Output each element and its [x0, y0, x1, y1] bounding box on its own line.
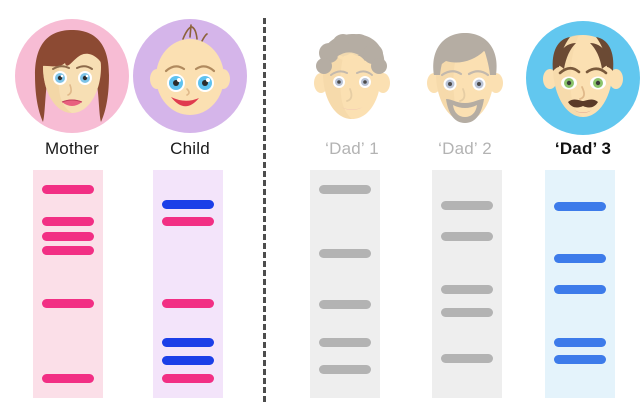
band-child-5[interactable] — [162, 356, 214, 365]
band-child-1[interactable] — [162, 200, 214, 209]
dad2-face-icon — [408, 21, 522, 135]
column-label-child: Child — [120, 139, 260, 159]
band-dad3-4[interactable] — [554, 338, 606, 347]
dad3-face-icon — [526, 21, 640, 135]
band-mother-4[interactable] — [42, 246, 94, 255]
band-child-6[interactable] — [162, 374, 214, 383]
band-dad3-1[interactable] — [554, 202, 606, 211]
child-face-icon — [133, 19, 247, 133]
band-dad2-4[interactable] — [441, 308, 493, 317]
band-dad2-3[interactable] — [441, 285, 493, 294]
gel-lane-dad1[interactable] — [310, 170, 380, 398]
gel-lane-dad2[interactable] — [432, 170, 502, 398]
band-dad1-1[interactable] — [319, 185, 371, 194]
band-dad3-2[interactable] — [554, 254, 606, 263]
paternity-gel-figure: MotherChild‘Dad’ 1‘Dad’ 2‘Dad’ 3 — [0, 0, 644, 417]
gel-lane-dad3[interactable] — [545, 170, 615, 398]
band-mother-5[interactable] — [42, 299, 94, 308]
gel-lane-mother[interactable] — [33, 170, 103, 398]
band-dad1-4[interactable] — [319, 338, 371, 347]
band-mother-6[interactable] — [42, 374, 94, 383]
band-child-2[interactable] — [162, 217, 214, 226]
band-dad2-2[interactable] — [441, 232, 493, 241]
mother-face-icon — [15, 19, 129, 133]
band-mother-2[interactable] — [42, 217, 94, 226]
band-dad1-3[interactable] — [319, 300, 371, 309]
band-child-4[interactable] — [162, 338, 214, 347]
band-dad2-1[interactable] — [441, 201, 493, 210]
panel-divider — [263, 18, 266, 402]
band-dad3-5[interactable] — [554, 355, 606, 364]
dad1-face-icon — [295, 21, 409, 135]
band-dad3-3[interactable] — [554, 285, 606, 294]
band-mother-1[interactable] — [42, 185, 94, 194]
band-child-3[interactable] — [162, 299, 214, 308]
gel-lane-child[interactable] — [153, 170, 223, 398]
column-label-dad3: ‘Dad’ 3 — [513, 139, 644, 159]
band-dad1-2[interactable] — [319, 249, 371, 258]
band-dad1-5[interactable] — [319, 365, 371, 374]
band-mother-3[interactable] — [42, 232, 94, 241]
band-dad2-5[interactable] — [441, 354, 493, 363]
